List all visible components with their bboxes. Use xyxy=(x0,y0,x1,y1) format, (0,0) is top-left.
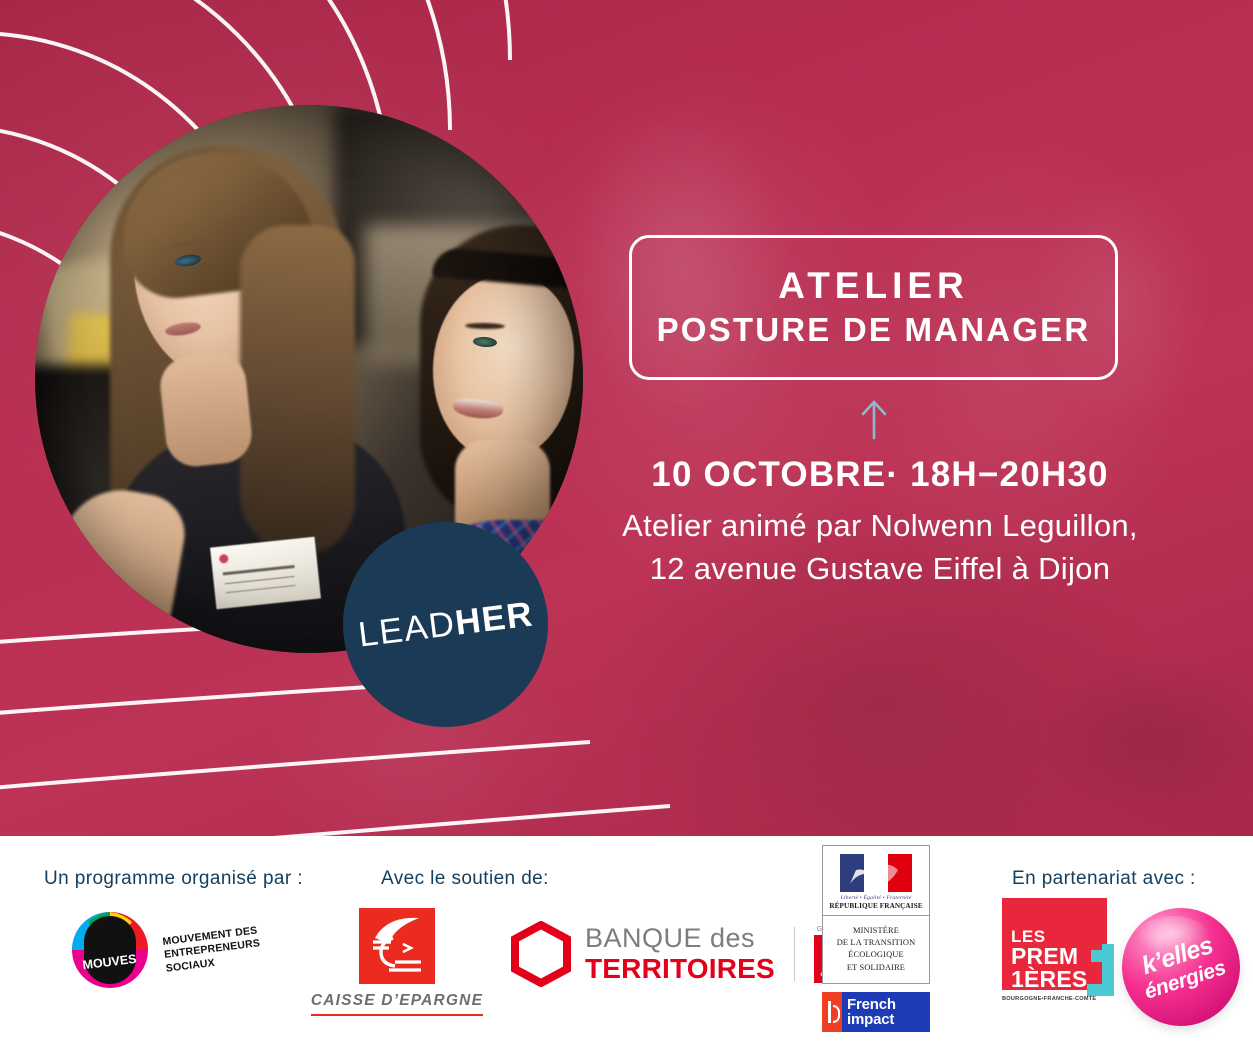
banque-line1: BANQUE des xyxy=(585,925,775,952)
arrow-up-icon xyxy=(856,398,892,440)
footer-column-organiser: Un programme organisé par : xyxy=(44,868,303,890)
caisse-epargne-logo: CAISSE D’EPARGNE xyxy=(307,908,487,1016)
mouves-mark-icon: MOUVES xyxy=(66,910,154,990)
french-impact-wordmark: French impact xyxy=(842,997,896,1028)
kelles-energies-ball-icon: k’elles énergies xyxy=(1122,908,1240,1026)
ministere-logo: Liberté • Égalité • Fraternité RÉPUBLIQU… xyxy=(822,845,930,984)
french-impact-line2: impact xyxy=(847,1012,896,1027)
ministere-line3: ÉCOLOGIQUE xyxy=(827,949,925,961)
french-impact-logo: French impact xyxy=(822,992,930,1032)
number-one-icon xyxy=(1085,944,1121,996)
leadher-logo: LEADHER xyxy=(343,522,548,727)
banque-territoires-logo: BANQUE des TERRITOIRES GROUPE Caisse des… xyxy=(510,921,862,987)
event-title-box: ATELIER POSTURE DE MANAGER xyxy=(629,235,1118,380)
caisse-epargne-mark-icon xyxy=(359,908,435,984)
devise-text: Liberté • Égalité • Fraternité xyxy=(829,895,923,901)
french-impact-mark-icon xyxy=(822,992,842,1032)
french-impact-line1: French xyxy=(847,997,896,1012)
event-details: 10 OCTOBRE· 18H−20H30 Atelier animé par … xyxy=(560,455,1200,591)
les-premieres-mark: LES PREM 1ÈRES xyxy=(1002,898,1107,990)
support-heading: Avec le soutien de: xyxy=(381,868,549,890)
event-title-secondary: POSTURE DE MANAGER xyxy=(657,309,1091,352)
event-poster: LEADHER ATELIER POSTURE DE MANAGER 10 OC… xyxy=(0,0,1253,1051)
ministere-line1: MINISTÈRE xyxy=(827,925,925,937)
ministere-line4: ET SOLIDAIRE xyxy=(827,962,925,974)
mouves-logo: MOUVES MOUVEMENT DES ENTREPRENEURS SOCIA… xyxy=(66,910,261,990)
marianne-flag-icon xyxy=(840,854,912,892)
event-title-primary: ATELIER xyxy=(778,263,969,309)
footer-column-partners: En partenariat avec : xyxy=(1012,868,1196,890)
banque-territoires-wordmark: BANQUE des TERRITOIRES xyxy=(585,925,775,983)
partners-heading: En partenariat avec : xyxy=(1012,868,1196,890)
caisse-epargne-wordmark: CAISSE D’EPARGNE xyxy=(311,992,483,1016)
footer-column-support: Avec le soutien de: xyxy=(381,868,549,890)
partners-footer: Un programme organisé par : MOUVES MOUVE… xyxy=(0,836,1253,1051)
mouves-wordmark: MOUVEMENT DES ENTREPRENEURS SOCIAUX xyxy=(162,924,263,976)
hero-section: LEADHER ATELIER POSTURE DE MANAGER 10 OC… xyxy=(0,0,1253,836)
les-premieres-logo: LES PREM 1ÈRES BOURGOGNE•FRANCHE-COMTÉ xyxy=(1002,898,1118,1002)
republique-text: RÉPUBLIQUE FRANÇAISE xyxy=(829,902,923,910)
ministere-wordmark: MINISTÈRE DE LA TRANSITION ÉCOLOGIQUE ET… xyxy=(823,916,929,983)
hexagon-icon xyxy=(510,921,572,987)
les-premieres-region: BOURGOGNE•FRANCHE-COMTÉ xyxy=(1002,996,1118,1002)
event-datetime: 10 OCTOBRE· 18H−20H30 xyxy=(560,455,1200,495)
event-address: 12 avenue Gustave Eiffel à Dijon xyxy=(560,548,1200,591)
ministere-line2: DE LA TRANSITION xyxy=(827,937,925,949)
logo-divider xyxy=(794,927,795,981)
organiser-heading: Un programme organisé par : xyxy=(44,868,303,890)
event-host: Atelier animé par Nolwenn Leguillon, xyxy=(560,505,1200,548)
banque-line2: TERRITOIRES xyxy=(585,955,775,983)
leadher-logo-bold: HER xyxy=(453,594,536,642)
leadher-logo-light: LEAD xyxy=(356,603,457,654)
kelles-energies-logo: k’elles énergies xyxy=(1122,908,1242,1026)
republique-francaise-block: Liberté • Égalité • Fraternité RÉPUBLIQU… xyxy=(823,846,929,916)
